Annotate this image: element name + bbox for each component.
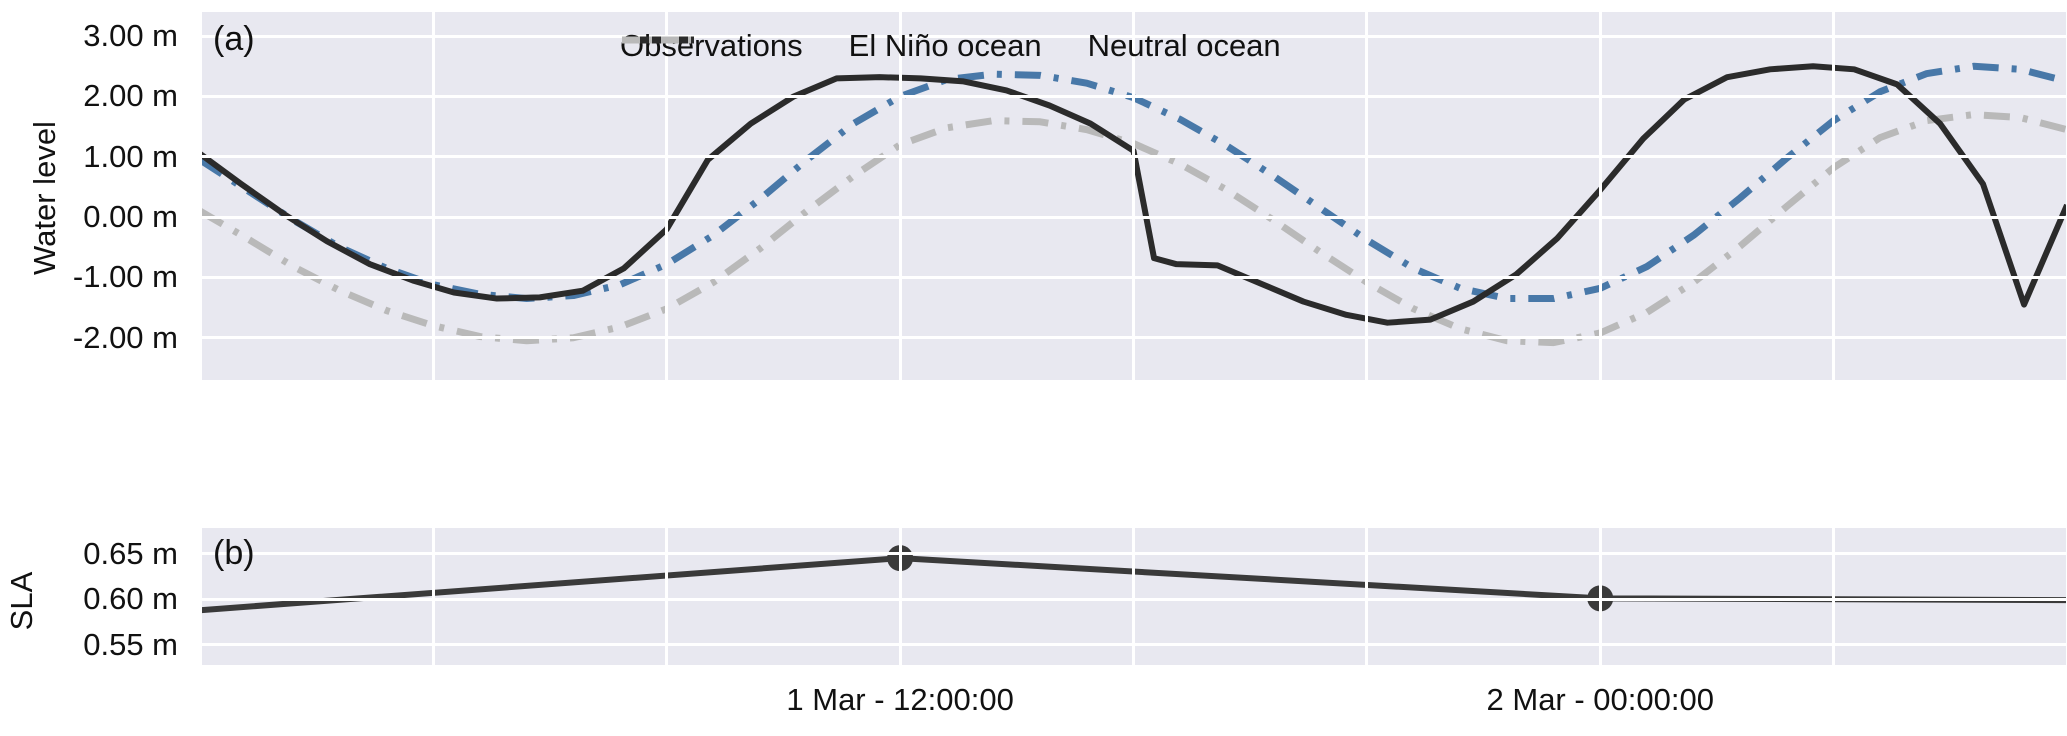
gridline-vertical — [1832, 12, 1835, 380]
gridline-vertical — [665, 528, 668, 665]
panel-sla: (b) SLA — [0, 528, 2067, 673]
x-axis-tick-label: 2 Mar - 00:00:00 — [1360, 684, 1840, 715]
gridline-vertical — [432, 12, 435, 380]
x-axis-tick-label: 1 Mar - 12:00:00 — [660, 684, 1140, 715]
legend-label-neutral-ocean: Neutral ocean — [1088, 30, 1281, 61]
gridline-vertical — [665, 12, 668, 380]
gridline-vertical — [899, 12, 902, 380]
gridline-vertical — [1132, 528, 1135, 665]
gridline-vertical — [1132, 12, 1135, 380]
gridline-vertical — [1832, 528, 1835, 665]
figure-root: (a) Water level Observations El Niño oce… — [0, 0, 2067, 736]
gridline-vertical — [1599, 528, 1602, 665]
y-axis-tick-label: 0.65 m — [0, 538, 178, 569]
panel-a-plot-area — [200, 12, 2067, 380]
y-axis-tick-label: 0.00 m — [0, 201, 178, 232]
gridline-vertical — [432, 528, 435, 665]
y-axis-tick-label: 3.00 m — [0, 20, 178, 51]
panel-b-plot-area — [200, 528, 2067, 665]
y-axis-tick-label: -1.00 m — [0, 261, 178, 292]
y-axis-tick-label: 0.60 m — [0, 583, 178, 614]
gridline-vertical — [899, 528, 902, 665]
y-axis-tick-label: 0.55 m — [0, 629, 178, 660]
panel-b-tag: (b) — [213, 536, 255, 570]
line-dashdot-icon — [620, 30, 696, 50]
gridline-vertical — [1365, 12, 1368, 380]
legend-label-el-nino-ocean: El Niño ocean — [849, 30, 1042, 61]
y-axis-tick-label: 1.00 m — [0, 141, 178, 172]
gridline-vertical — [200, 528, 202, 665]
legend-entry-neutral-ocean[interactable]: Neutral ocean — [1088, 30, 1281, 61]
y-axis-tick-label: -2.00 m — [0, 322, 178, 353]
legend-entry-el-nino-ocean[interactable]: El Niño ocean — [849, 30, 1042, 61]
panel-a-tag: (a) — [213, 22, 255, 56]
panel-water-level: (a) Water level Observations El Niño oce… — [0, 0, 2067, 385]
gridline-vertical — [1599, 12, 1602, 380]
gridline-vertical — [1365, 528, 1368, 665]
gridline-vertical — [200, 12, 202, 380]
y-axis-tick-label: 2.00 m — [0, 80, 178, 111]
legend: Observations El Niño ocean Neutral ocean — [620, 30, 1281, 61]
